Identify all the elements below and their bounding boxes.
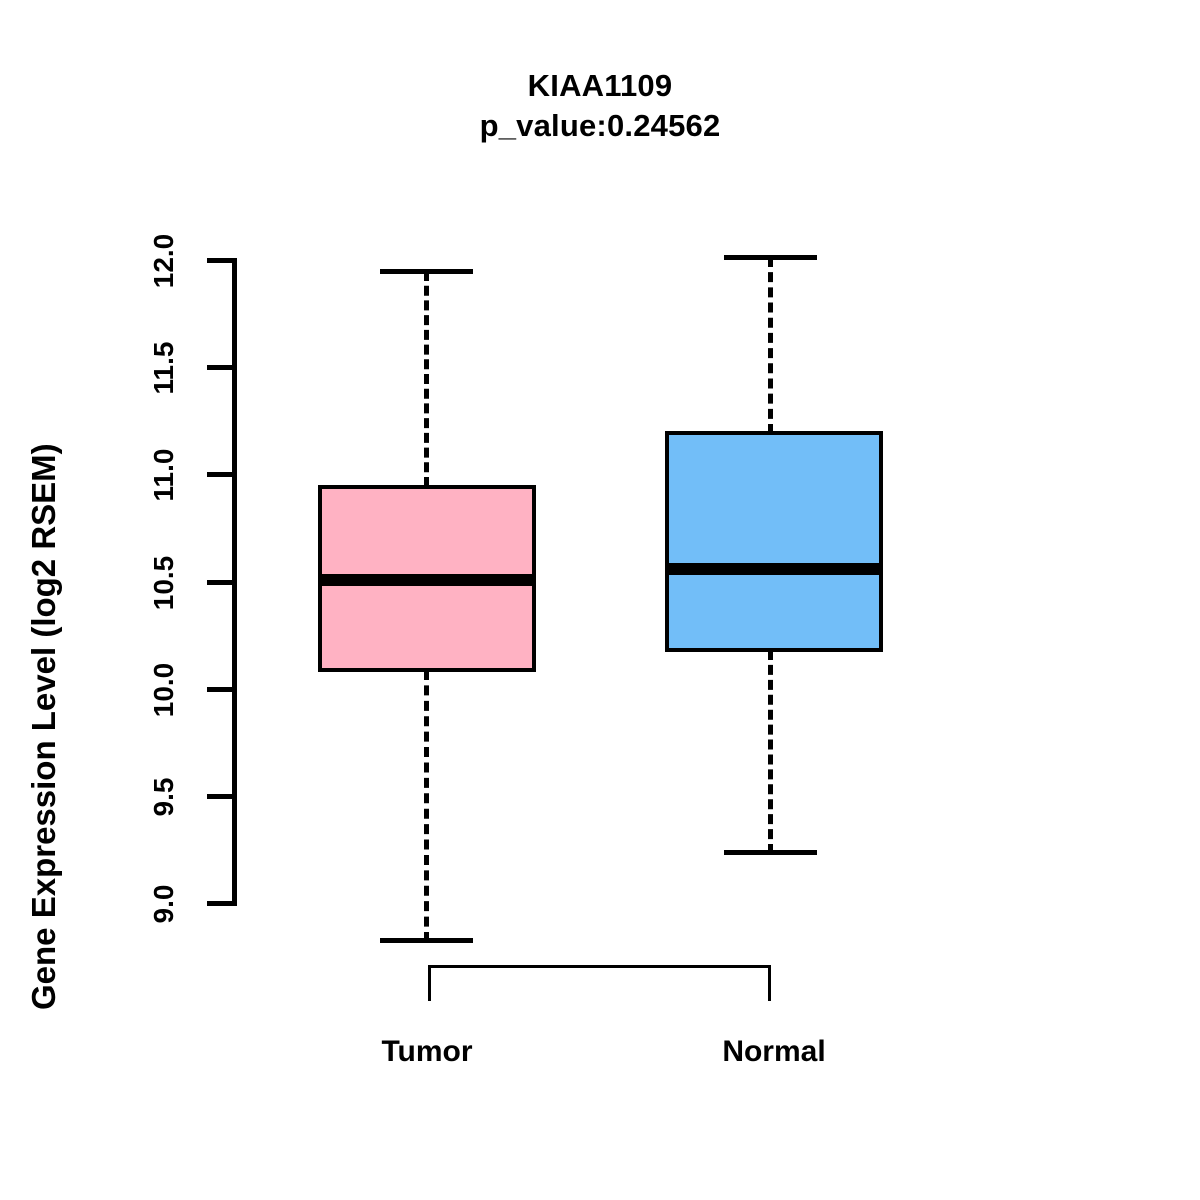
x-axis-bracket-top — [428, 965, 771, 968]
y-axis-title: Gene Expression Level (log2 RSEM) — [14, 190, 74, 1010]
y-tick-12-0 — [207, 258, 234, 263]
normal-lower-whisker-cap — [724, 850, 817, 855]
normal-upper-whisker-line — [768, 257, 773, 434]
tumor-lower-whisker-cap — [380, 938, 473, 943]
y-tick-9-5 — [207, 794, 234, 799]
chart-title-block: KIAA1109 p_value:0.24562 — [0, 66, 1200, 145]
x-axis-bracket-leg-right — [768, 965, 771, 1001]
y-tick-11-5 — [207, 365, 234, 370]
y-tick-10-5 — [207, 580, 234, 585]
y-tick-10-0 — [207, 687, 234, 692]
y-tick-label-11-5: 11.5 — [148, 316, 180, 420]
normal-median-line — [665, 563, 883, 575]
x-axis-bracket-leg-left — [428, 965, 431, 1001]
y-tick-label-9-0: 9.0 — [148, 859, 180, 949]
y-tick-label-10-0: 10.0 — [148, 638, 180, 742]
boxplot-figure: KIAA1109 p_value:0.24562 Gene Expression… — [0, 0, 1200, 1200]
x-tick-label-normal: Normal — [654, 1035, 894, 1069]
y-tick-11-0 — [207, 472, 234, 477]
chart-title-pvalue: p_value:0.24562 — [0, 106, 1200, 146]
y-tick-label-12-0: 12.0 — [148, 209, 180, 313]
y-tick-label-9-5: 9.5 — [148, 752, 180, 842]
y-tick-9-0 — [207, 901, 234, 906]
tumor-upper-whisker-line — [424, 271, 429, 487]
normal-box — [665, 431, 883, 652]
y-tick-label-11-0: 11.0 — [148, 423, 180, 527]
x-tick-label-tumor: Tumor — [307, 1035, 547, 1069]
tumor-lower-whisker-line — [424, 670, 429, 942]
y-tick-label-10-5: 10.5 — [148, 531, 180, 635]
tumor-median-line — [318, 574, 536, 586]
normal-lower-whisker-line — [768, 650, 773, 854]
chart-title-gene: KIAA1109 — [0, 66, 1200, 106]
